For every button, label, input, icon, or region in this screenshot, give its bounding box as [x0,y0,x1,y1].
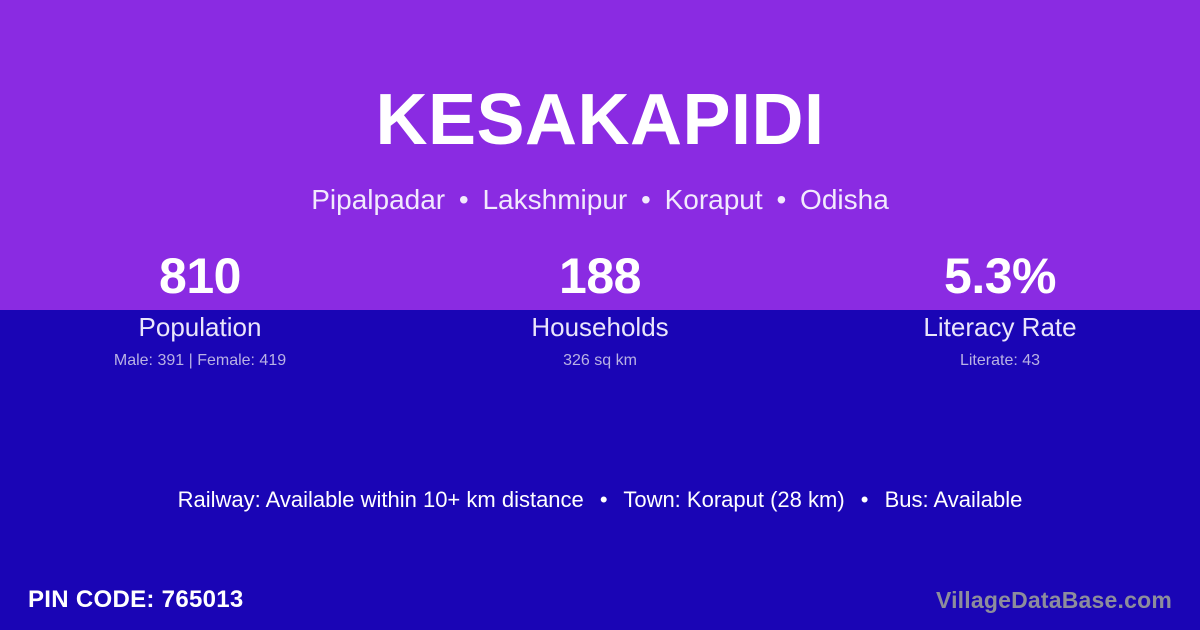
breadcrumb-block: Lakshmipur [482,184,627,215]
infra-town: Town: Koraput (28 km) [623,487,844,512]
stat-literacy-rate: 5.3% Literacy Rate Literate: 43 [800,246,1200,372]
brand-watermark: VillageDataBase.com [936,585,1172,615]
breadcrumb-separator: • [635,184,657,215]
breadcrumb: Pipalpadar • Lakshmipur • Koraput • Odis… [0,183,1200,217]
stat-label: Literacy Rate [800,310,1200,344]
infra-separator: • [851,487,879,512]
village-info-card: KESAKAPIDI Pipalpadar • Lakshmipur • Kor… [0,0,1200,630]
infrastructure-line: Railway: Available within 10+ km distanc… [0,485,1200,515]
pin-code: PIN CODE: 765013 [28,585,244,615]
footer: PIN CODE: 765013 VillageDataBase.com [0,578,1200,622]
infra-bus: Bus: Available [885,487,1023,512]
stat-value: 5.3% [800,246,1200,306]
infra-separator: • [590,487,618,512]
stat-value: 810 [0,246,400,306]
stat-detail: 326 sq km [400,350,800,372]
breadcrumb-separator: • [453,184,475,215]
breadcrumb-panchayat: Pipalpadar [311,184,445,215]
stat-label: Population [0,310,400,344]
stat-label: Households [400,310,800,344]
stats-row: 810 Population Male: 391 | Female: 419 1… [0,246,1200,372]
breadcrumb-state: Odisha [800,184,889,215]
stat-detail: Literate: 43 [800,350,1200,372]
breadcrumb-separator: • [770,184,792,215]
stat-detail: Male: 391 | Female: 419 [0,350,400,372]
stat-households: 188 Households 326 sq km [400,246,800,372]
infra-railway: Railway: Available within 10+ km distanc… [178,487,584,512]
breadcrumb-district: Koraput [665,184,763,215]
stat-population: 810 Population Male: 391 | Female: 419 [0,246,400,372]
page-title: KESAKAPIDI [0,84,1200,156]
stat-value: 188 [400,246,800,306]
